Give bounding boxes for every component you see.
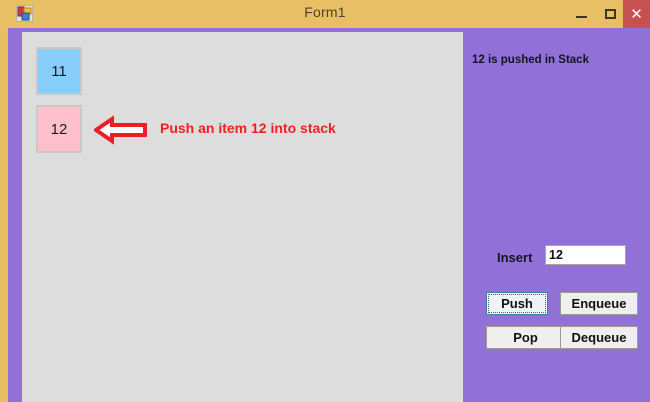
maximize-button[interactable] — [597, 0, 623, 28]
status-message: 12 is pushed in Stack — [472, 54, 589, 66]
insert-label: Insert — [497, 250, 532, 265]
stack-panel: 11 12 Push an item 12 into stack — [22, 32, 463, 402]
insert-input[interactable] — [545, 245, 626, 265]
enqueue-button-label: Enqueue — [572, 296, 627, 311]
maximize-icon — [605, 9, 616, 19]
enqueue-button[interactable]: Enqueue — [560, 292, 638, 315]
focus-rectangle — [488, 294, 546, 313]
minimize-button[interactable] — [568, 0, 594, 28]
left-arrow-icon — [94, 115, 147, 145]
window-title: Form1 — [0, 4, 650, 20]
minimize-icon — [576, 16, 587, 18]
pop-button-label: Pop — [513, 330, 538, 345]
dequeue-button-label: Dequeue — [572, 330, 627, 345]
push-button[interactable]: Push — [486, 292, 548, 315]
dequeue-button[interactable]: Dequeue — [560, 326, 638, 349]
title-bar[interactable]: Form1 ✕ — [0, 0, 650, 28]
stack-item-value: 12 — [51, 121, 68, 138]
close-button[interactable]: ✕ — [623, 0, 650, 28]
annotation-text: Push an item 12 into stack — [160, 120, 336, 136]
close-icon: ✕ — [630, 7, 643, 22]
stack-item-value: 11 — [51, 63, 67, 80]
form-client-area: 11 12 Push an item 12 into stack 12 is p… — [8, 28, 650, 402]
stack-item: 11 — [36, 47, 82, 95]
stack-item: 12 — [36, 105, 82, 153]
pop-button[interactable]: Pop — [486, 326, 565, 349]
application-window: Form1 ✕ 11 12 Push an item 12 i — [0, 0, 650, 402]
